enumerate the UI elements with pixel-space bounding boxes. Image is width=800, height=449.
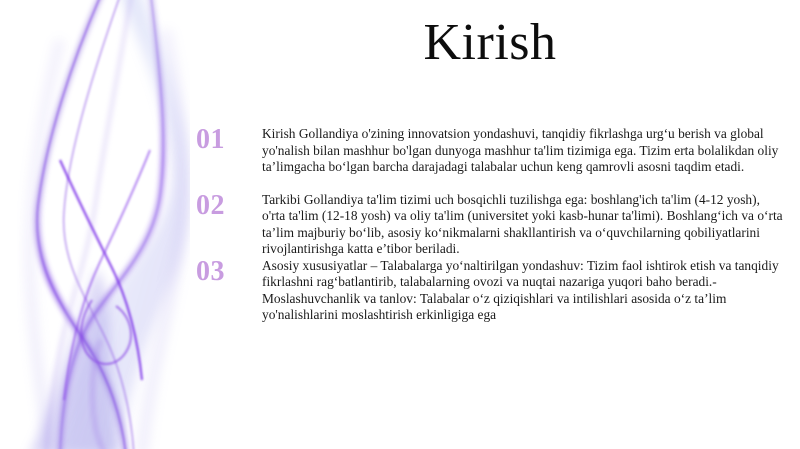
slide-title: Kirish bbox=[190, 14, 790, 72]
list-item: 03 Asosiy xususiyatlar – Talabalarga yo‘… bbox=[196, 258, 786, 324]
item-number-03: 03 bbox=[196, 258, 248, 286]
numbered-content-list: 01 Kirish Gollandiya o'zining innovatsio… bbox=[196, 126, 786, 324]
item-text-03: Asosiy xususiyatlar – Talabalarga yo‘nal… bbox=[262, 258, 786, 324]
purple-smoke-ribbon-decoration bbox=[0, 0, 190, 449]
slide-canvas: Kirish 01 Kirish Gollandiya o'zining inn… bbox=[0, 0, 800, 449]
item-text-02: Tarkibi Gollandiya ta'lim tizimi uch bos… bbox=[262, 192, 786, 258]
item-number-02: 02 bbox=[196, 192, 248, 220]
item-number-01: 01 bbox=[196, 126, 248, 154]
list-item: 02 Tarkibi Gollandiya ta'lim tizimi uch … bbox=[196, 192, 786, 258]
item-text-01: Kirish Gollandiya o'zining innovatsion y… bbox=[262, 126, 786, 176]
list-item: 01 Kirish Gollandiya o'zining innovatsio… bbox=[196, 126, 786, 176]
